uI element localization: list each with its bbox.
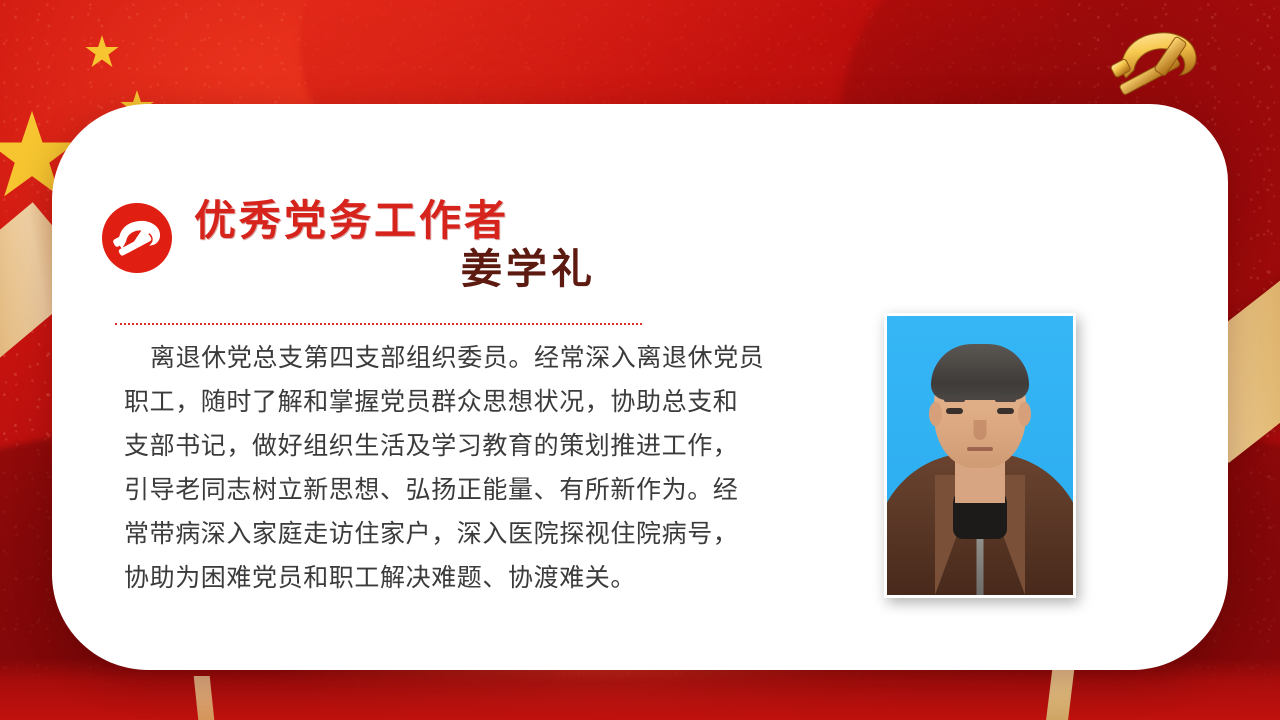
portrait-ear-right bbox=[1018, 402, 1031, 426]
body-line: 职工，随时了解和掌握党员群众思想状况，协助总支和 bbox=[124, 380, 840, 424]
body-line: 离退休党总支第四支部组织委员。经常深入离退休党员 bbox=[124, 336, 840, 380]
portrait-photo bbox=[884, 313, 1076, 598]
content-card: 优秀党务工作者 姜学礼 离退休党总支第四支部组织委员。经常深入离退休党员 职工，… bbox=[52, 104, 1228, 670]
portrait-eyebrow-left bbox=[944, 398, 965, 402]
hammer-and-sickle-gold-emblem-icon bbox=[1106, 22, 1218, 100]
portrait-ear-left bbox=[929, 402, 942, 426]
body-line: 协助为困难党员和职工解决难题、协渡难关。 bbox=[124, 556, 840, 600]
biography-text: 离退休党总支第四支部组织委员。经常深入离退休党员 职工，随时了解和掌握党员群众思… bbox=[124, 336, 840, 600]
portrait-hair bbox=[931, 344, 1029, 400]
person-name: 姜学礼 bbox=[194, 244, 714, 295]
cpc-party-badge-icon bbox=[100, 201, 174, 275]
portrait-mouth bbox=[967, 447, 993, 451]
five-point-star-small-1-icon bbox=[84, 34, 120, 70]
portrait-nose bbox=[974, 420, 987, 440]
body-line: 支部书记，做好组织生活及学习教育的策划推进工作， bbox=[124, 424, 840, 468]
body-line: 常带病深入家庭走访住家户，深入医院探视住院病号， bbox=[124, 512, 840, 556]
portrait-eye-right bbox=[997, 408, 1014, 414]
slide-root: 优秀党务工作者 姜学礼 离退休党总支第四支部组织委员。经常深入离退休党员 职工，… bbox=[0, 0, 1280, 720]
page-title: 优秀党务工作者 bbox=[194, 200, 714, 244]
portrait-eye-left bbox=[946, 408, 963, 414]
title-block: 优秀党务工作者 姜学礼 bbox=[194, 200, 714, 295]
body-line: 引导老同志树立新思想、弘扬正能量、有所新作为。经 bbox=[124, 468, 840, 512]
portrait-eyebrow-right bbox=[995, 398, 1016, 402]
portrait-image bbox=[887, 316, 1073, 595]
dotted-divider bbox=[115, 323, 642, 325]
